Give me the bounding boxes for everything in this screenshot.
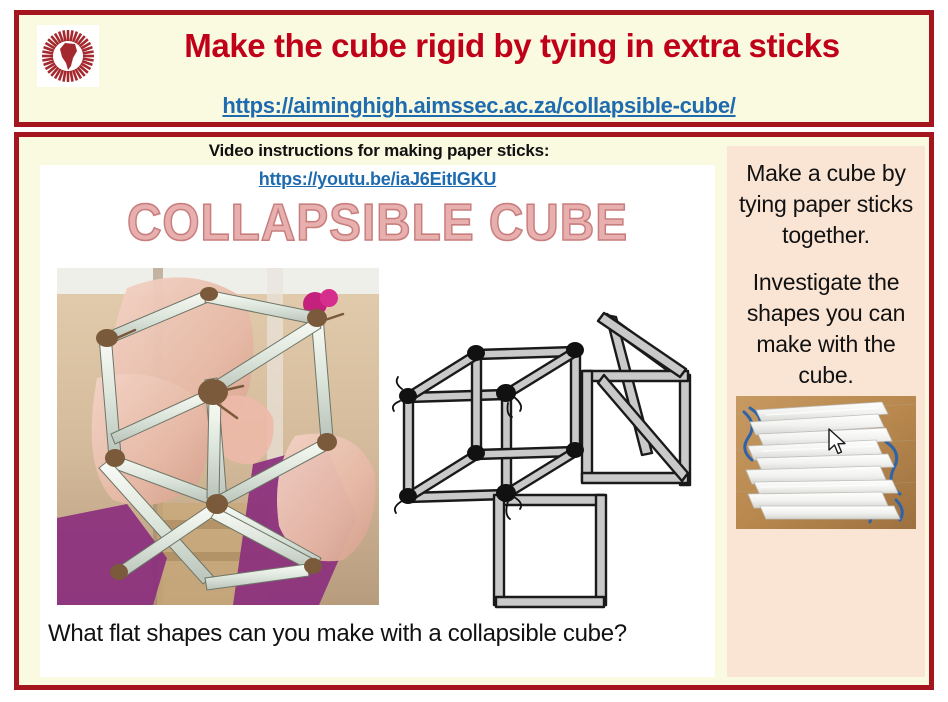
aiminghigh-url-link[interactable]: https://aiminghigh.aimssec.ac.za/collaps…: [49, 93, 909, 119]
content-panel: https://youtu.be/iaJ6EitIGKU COLLAPSIBLE…: [40, 165, 715, 677]
paper-sticks-bundle-photo: [736, 396, 916, 529]
poster-title: COLLAPSIBLE CUBE: [67, 193, 688, 253]
sidebar-paragraph-investigate: Investigate the shapes you can make with…: [736, 251, 916, 391]
bottom-caption: What flat shapes can you make with a col…: [48, 620, 715, 648]
video-instructions-label: Video instructions for making paper stic…: [39, 141, 719, 161]
header-band: Make the cube rigid by tying in extra st…: [14, 10, 934, 127]
slide-canvas: Make the cube rigid by tying in extra st…: [0, 0, 948, 702]
sidebar-paragraph-make-cube: Make a cube by tying paper sticks togeth…: [736, 146, 916, 251]
sidebar-panel: Make a cube by tying paper sticks togeth…: [727, 146, 925, 677]
page-title: Make the cube rigid by tying in extra st…: [103, 23, 921, 69]
aimssec-africa-sunburst-logo-icon: [37, 25, 99, 87]
body-band: Video instructions for making paper stic…: [14, 132, 934, 690]
hands-with-stick-cube-photo: [57, 268, 379, 605]
cube-diagrams-illustration: [388, 305, 713, 625]
youtube-video-link[interactable]: https://youtu.be/iaJ6EitIGKU: [40, 169, 715, 190]
